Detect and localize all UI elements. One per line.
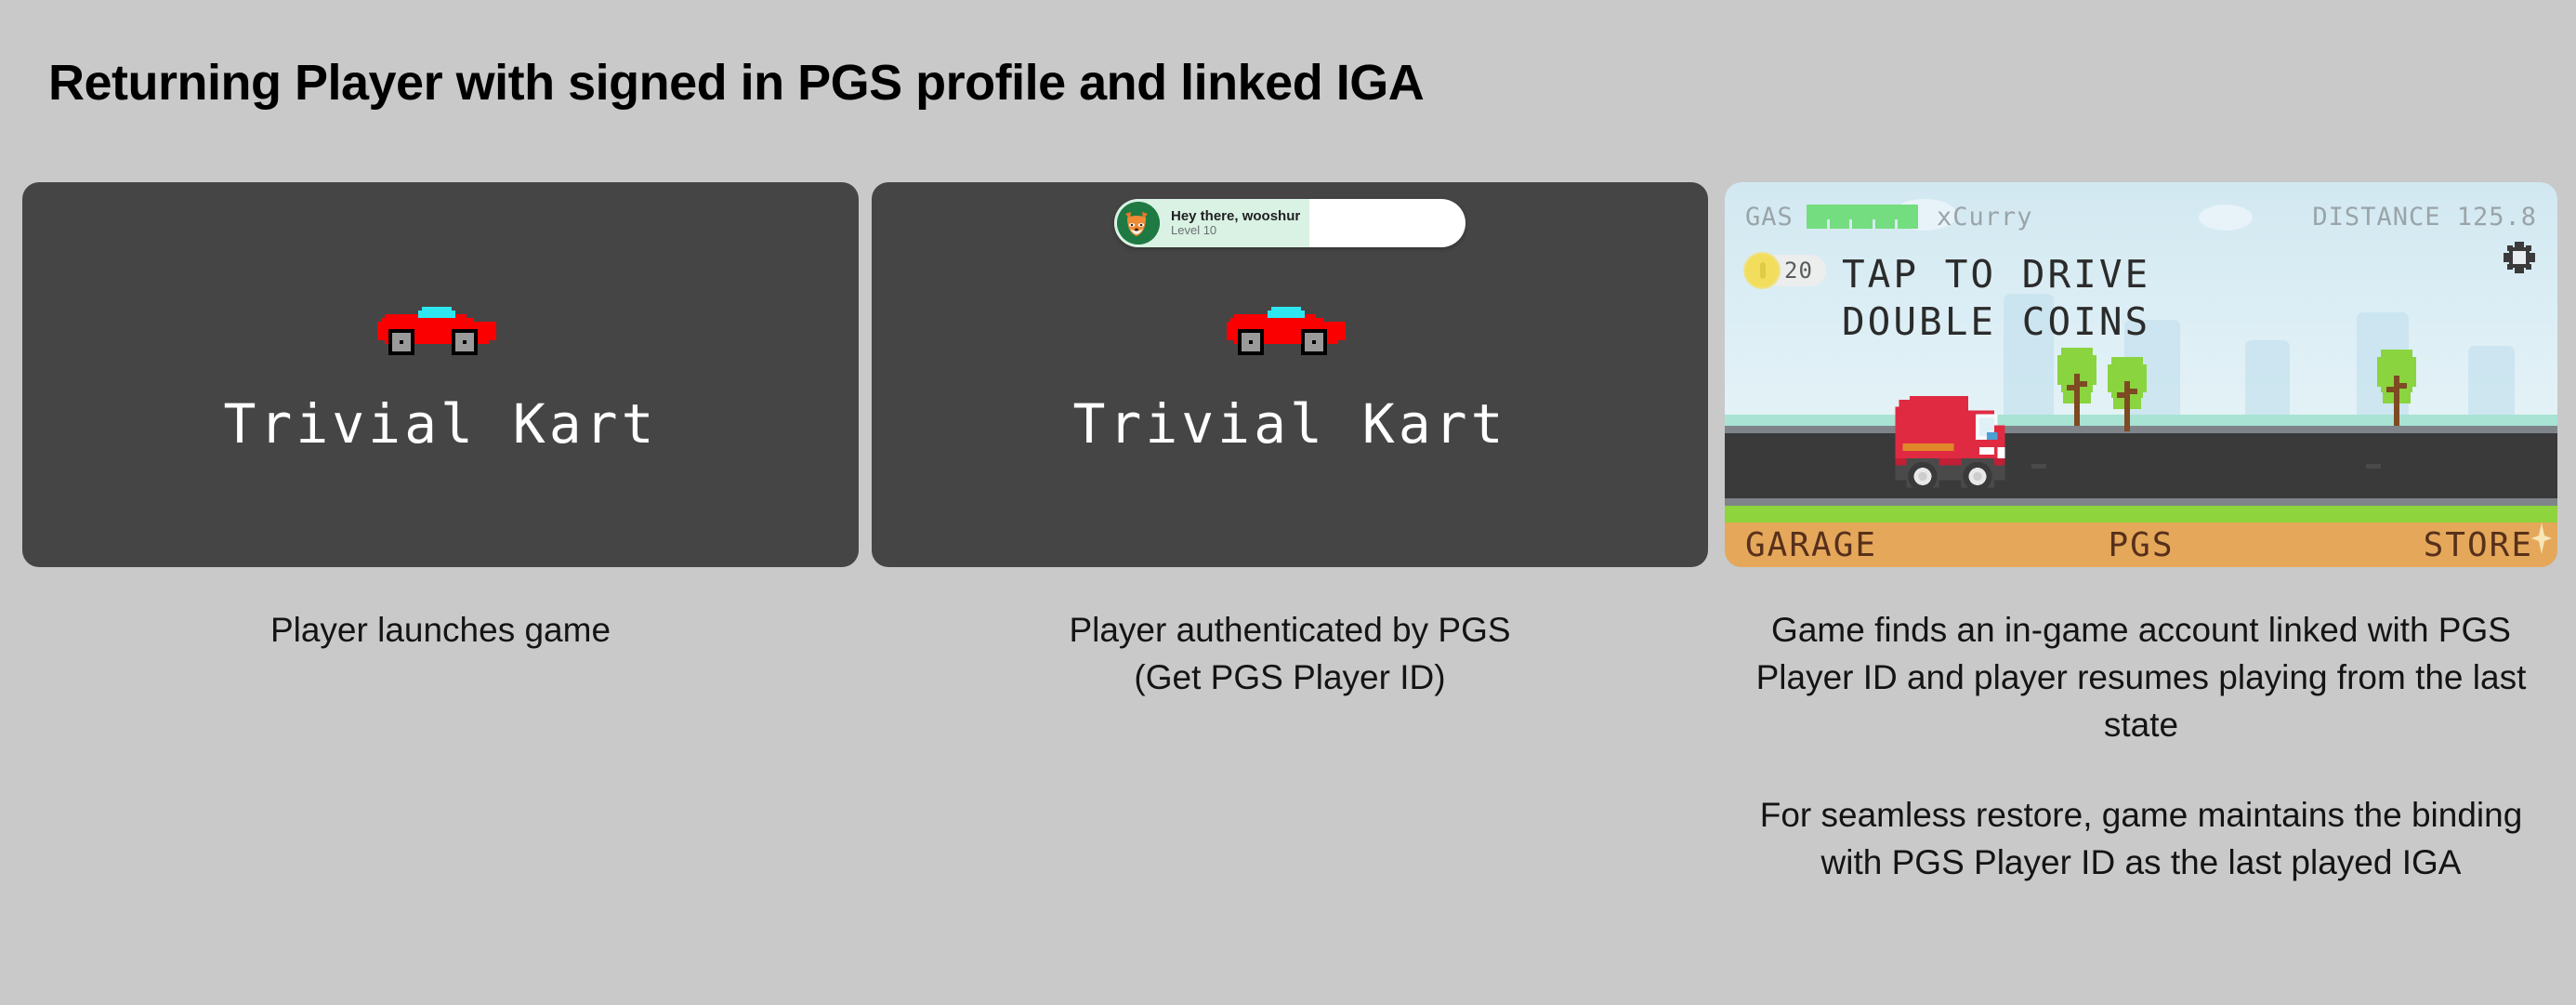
tap-prompt-line-2: DOUBLE COINS (1842, 298, 2150, 346)
pixel-car-icon (1219, 295, 1360, 368)
nav-item-store[interactable]: STORE (2424, 526, 2533, 564)
tree (2106, 357, 2149, 436)
pixel-car-icon (370, 295, 511, 368)
building-silhouette (2468, 346, 2515, 424)
coin-counter: 20 (1749, 255, 1826, 286)
game-splash-screen-1: Trivial Kart (22, 182, 859, 567)
caption-line-2: (Get PGS Player ID) (872, 654, 1708, 701)
building-silhouette (2245, 340, 2290, 424)
road-surface (1725, 433, 2557, 498)
cloud (2199, 205, 2253, 231)
toast-greeting: Hey there, wooshur (1171, 208, 1300, 224)
panel-launch: Trivial Kart Player launches game (22, 182, 859, 654)
page-title: Returning Player with signed in PGS prof… (48, 54, 1424, 112)
pgs-signin-toast[interactable]: Hey there, wooshur Level 10 (1114, 199, 1465, 247)
nav-item-garage[interactable]: GARAGE (1745, 526, 1877, 564)
game-play-screen[interactable]: GAS xCurry DISTANCE 125.8 (1725, 182, 2557, 567)
game-world[interactable]: GAS xCurry DISTANCE 125.8 (1725, 182, 2557, 567)
gas-segment (1830, 219, 1853, 229)
coin-count: 20 (1784, 258, 1813, 284)
tree (2375, 350, 2418, 430)
caption-panel-3-block-2: For seamless restore, game maintains the… (1725, 791, 2557, 886)
splash-content: Trivial Kart (22, 182, 859, 567)
game-logo-text: Trivial Kart (1072, 392, 1506, 456)
fox-avatar-icon (1117, 202, 1160, 245)
gas-segment (1875, 219, 1899, 229)
road-edge-bottom (1725, 498, 2557, 506)
panel-authenticated: Trivial Kart (872, 182, 1708, 701)
gear-icon[interactable] (2502, 240, 2537, 280)
player-name-label: xCurry (1937, 203, 2033, 231)
gas-segment (1898, 219, 1918, 229)
sparkle-icon (2531, 522, 2552, 554)
gas-meter (1807, 205, 1918, 229)
caption-panel-1: Player launches game (22, 606, 859, 654)
tap-prompt: TAP TO DRIVE DOUBLE COINS (1842, 251, 2150, 346)
player-truck (1890, 385, 2069, 507)
road-dash (2366, 464, 2381, 469)
caption-panel-2: Player authenticated by PGS (Get PGS Pla… (872, 606, 1708, 701)
game-logo-text: Trivial Kart (223, 392, 657, 456)
tap-prompt-line-1: TAP TO DRIVE (1842, 251, 2150, 298)
caption-line-1: Player authenticated by PGS (872, 606, 1708, 654)
caption-panel-3-block-1: Game finds an in-game account linked wit… (1725, 606, 2557, 748)
toast-text: Hey there, wooshur Level 10 (1171, 208, 1300, 238)
gas-label: GAS (1745, 203, 1794, 231)
coin-icon (1743, 252, 1781, 289)
toast-level: Level 10 (1171, 224, 1300, 238)
bottom-navigation: GARAGE PGS STORE (1725, 522, 2557, 567)
gas-segment (1807, 219, 1830, 229)
nav-item-pgs[interactable]: PGS (2108, 526, 2174, 564)
distance-label: DISTANCE 125.8 (2312, 203, 2537, 231)
panel-gameplay: GAS xCurry DISTANCE 125.8 (1725, 182, 2557, 886)
game-splash-screen-2: Trivial Kart (872, 182, 1708, 567)
gas-segment (1852, 219, 1875, 229)
